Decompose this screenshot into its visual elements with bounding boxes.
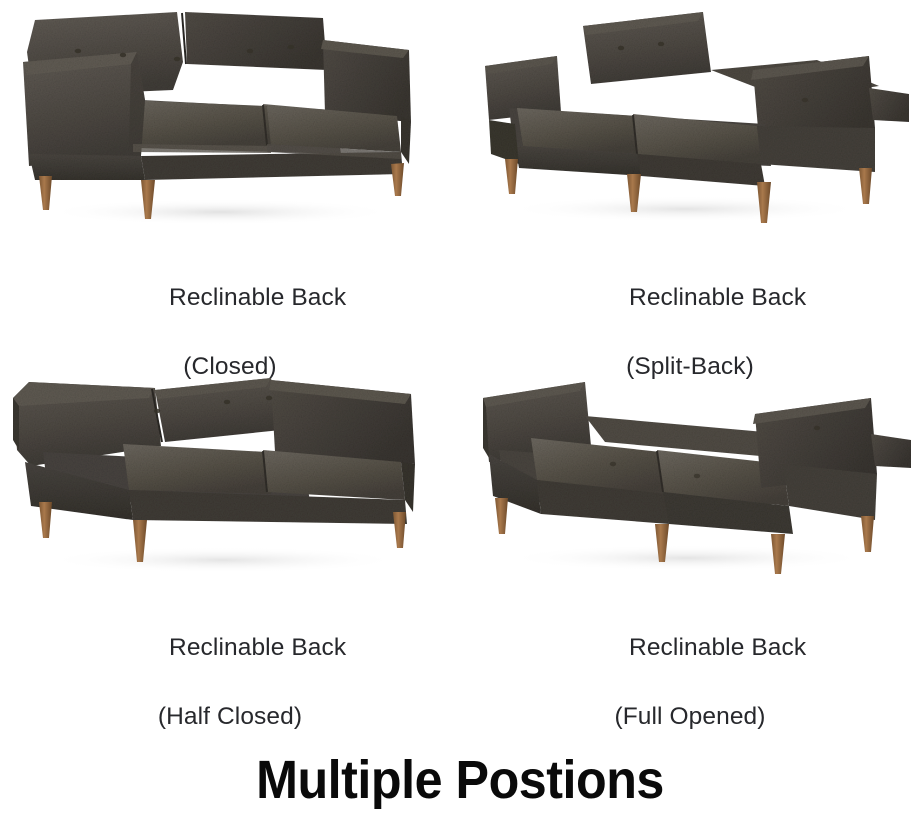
caption-line-2: (Half Closed) (114, 700, 346, 735)
position-panel-half-closed: Reclinable Back (Half Closed) (0, 350, 460, 700)
caption-line-1: Reclinable Back (169, 284, 346, 311)
position-panel-closed: Reclinable Back (Closed) (0, 0, 460, 350)
sofa-reclinable-back-closed-icon (5, 4, 455, 236)
caption-line-1: Reclinable Back (629, 634, 806, 661)
sofa-reclinable-back-half-closed-icon (5, 354, 455, 586)
position-panel-split-back: Reclinable Back (Split-Back) (460, 0, 920, 350)
infographic-headline: Multiple Postions (32, 752, 888, 809)
product-feature-infographic: Reclinable Back (Closed) (0, 0, 920, 840)
caption-line-1: Reclinable Back (629, 284, 806, 311)
sofa-reclinable-back-full-opened-icon (465, 354, 915, 586)
position-panel-grid: Reclinable Back (Closed) (0, 0, 920, 700)
position-panel-full-opened: Reclinable Back (Full Opened) (460, 350, 920, 700)
caption-line-2: (Full Opened) (574, 700, 806, 735)
caption-line-1: Reclinable Back (169, 634, 346, 661)
sofa-reclinable-back-split-icon (465, 4, 915, 236)
